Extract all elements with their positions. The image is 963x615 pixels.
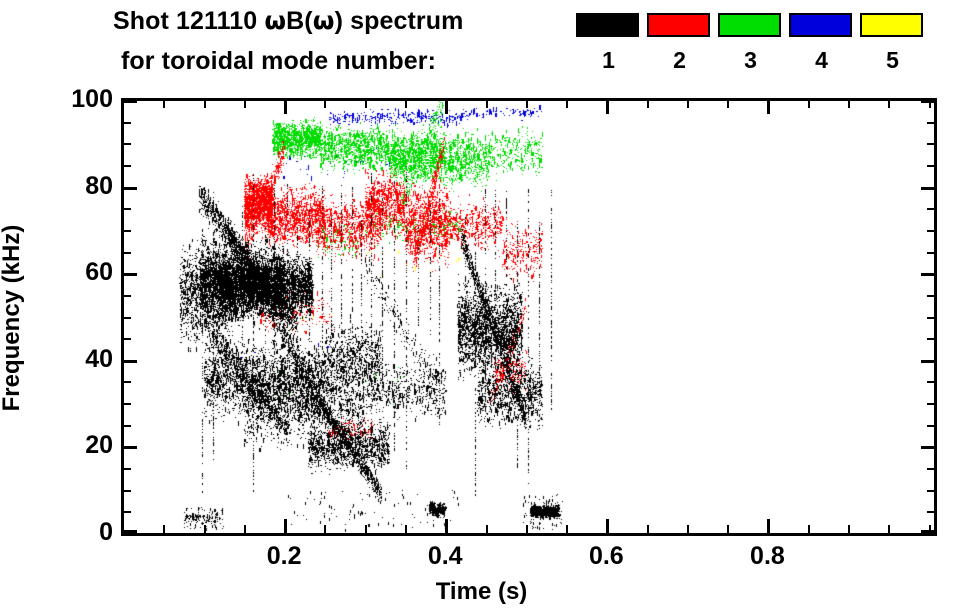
x-minor-tick-top [244, 100, 246, 108]
y-minor-tick [123, 425, 131, 427]
x-tick-label: 0.6 [566, 544, 646, 569]
legend-swatch-3 [718, 13, 781, 37]
y-minor-tick [123, 317, 131, 319]
y-minor-tick-right [927, 490, 935, 492]
x-minor-tick-top [647, 100, 649, 108]
y-major-tick [123, 360, 137, 363]
y-axis-title: Frequency (kHz) [0, 0, 26, 183]
legend-item-4: 4 [789, 13, 854, 72]
x-minor-tick [163, 525, 165, 533]
y-minor-tick-right [927, 143, 935, 145]
x-minor-tick [647, 525, 649, 533]
x-minor-tick-top [486, 100, 488, 108]
x-minor-tick-top [163, 100, 165, 108]
y-minor-tick-right [927, 230, 935, 232]
y-minor-tick [123, 403, 131, 405]
x-major-tick-top [284, 100, 287, 114]
omega-symbol-2: ω [313, 6, 335, 35]
y-minor-tick [123, 122, 131, 124]
legend-swatch-1 [576, 13, 639, 37]
axis-bottom-spine [123, 533, 937, 536]
plot-area [123, 100, 935, 533]
y-minor-tick-right [927, 208, 935, 210]
x-minor-tick-top [687, 100, 689, 108]
x-minor-tick [244, 525, 246, 533]
x-minor-tick [526, 525, 528, 533]
x-minor-tick [365, 525, 367, 533]
x-minor-tick [324, 525, 326, 533]
y-major-tick [123, 273, 137, 276]
x-tick-label: 0.4 [405, 544, 485, 569]
x-major-tick-top [606, 100, 609, 114]
figure-title-line-1: Shot 121110 ωB(ω) spectrum [113, 6, 463, 36]
x-minor-tick [727, 525, 729, 533]
x-tick-label: 0.2 [244, 544, 324, 569]
y-minor-tick-right [927, 381, 935, 383]
y-major-tick-right [921, 446, 935, 449]
y-tick-label: 0 [57, 520, 113, 545]
y-tick-label: 20 [57, 433, 113, 458]
y-minor-tick [123, 468, 131, 470]
y-minor-tick [123, 295, 131, 297]
y-major-tick-right [921, 273, 935, 276]
y-major-tick [123, 187, 137, 190]
x-minor-tick [405, 525, 407, 533]
legend-label-4: 4 [789, 49, 854, 72]
y-minor-tick [123, 511, 131, 513]
y-axis-title-text: Frequency (kHz) [0, 183, 26, 453]
legend-item-3: 3 [718, 13, 783, 72]
x-minor-tick-top [526, 100, 528, 108]
y-minor-tick [123, 143, 131, 145]
y-minor-tick-right [927, 511, 935, 513]
x-major-tick-top [767, 100, 770, 114]
x-major-tick [445, 519, 448, 533]
x-minor-tick-top [566, 100, 568, 108]
x-minor-tick-top [888, 100, 890, 108]
x-minor-tick [486, 525, 488, 533]
y-minor-tick-right [927, 468, 935, 470]
x-tick-label: 0.8 [727, 544, 807, 569]
y-major-tick [123, 446, 137, 449]
y-minor-tick-right [927, 403, 935, 405]
legend-item-1: 1 [576, 13, 641, 72]
y-major-tick-right [921, 530, 935, 533]
x-major-tick-top [445, 100, 448, 114]
y-minor-tick-right [927, 338, 935, 340]
x-minor-tick [687, 525, 689, 533]
y-major-tick [123, 100, 137, 103]
y-minor-tick [123, 208, 131, 210]
y-minor-tick [123, 490, 131, 492]
legend-label-2: 2 [647, 49, 712, 72]
y-minor-tick-right [927, 122, 935, 124]
y-major-tick [123, 530, 137, 533]
x-axis-title: Time (s) [0, 578, 963, 606]
spectrogram-figure: Shot 121110 ωB(ω) spectrum for toroidal … [0, 0, 963, 615]
x-minor-tick [888, 525, 890, 533]
y-minor-tick [123, 338, 131, 340]
x-minor-tick-top [405, 100, 407, 108]
y-major-tick-right [921, 187, 935, 190]
omega-symbol-1: ω [264, 6, 286, 35]
y-minor-tick [123, 252, 131, 254]
title-shot-text: Shot 121110 [113, 7, 264, 35]
y-major-tick-right [921, 360, 935, 363]
x-minor-tick [848, 525, 850, 533]
y-major-tick-right [921, 100, 935, 103]
y-tick-label: 80 [57, 174, 113, 199]
spectrogram-canvas [123, 100, 935, 533]
y-minor-tick-right [927, 252, 935, 254]
legend-label-1: 1 [576, 49, 641, 72]
x-minor-tick-top [365, 100, 367, 108]
title-b-open: B( [286, 7, 313, 35]
figure-title-line-2: for toroidal mode number: [121, 47, 436, 76]
y-minor-tick [123, 230, 131, 232]
legend-label-5: 5 [860, 49, 925, 72]
legend-swatch-2 [647, 13, 710, 37]
y-minor-tick-right [927, 165, 935, 167]
legend: 12345 [576, 13, 956, 91]
x-minor-tick-top [727, 100, 729, 108]
x-minor-tick [808, 525, 810, 533]
legend-swatch-4 [789, 13, 852, 37]
x-minor-tick [566, 525, 568, 533]
x-minor-tick [204, 525, 206, 533]
legend-swatch-5 [860, 13, 923, 37]
legend-item-2: 2 [647, 13, 712, 72]
y-minor-tick [123, 165, 131, 167]
x-major-tick [284, 519, 287, 533]
y-minor-tick-right [927, 295, 935, 297]
y-minor-tick-right [927, 425, 935, 427]
y-tick-label: 100 [57, 87, 113, 112]
x-minor-tick-top [204, 100, 206, 108]
y-tick-label: 40 [57, 347, 113, 372]
x-major-tick [606, 519, 609, 533]
legend-label-3: 3 [718, 49, 783, 72]
legend-item-5: 5 [860, 13, 925, 72]
y-minor-tick [123, 381, 131, 383]
y-tick-label: 60 [57, 260, 113, 285]
x-minor-tick-top [324, 100, 326, 108]
x-minor-tick-top [808, 100, 810, 108]
x-minor-tick-top [848, 100, 850, 108]
title-spectrum-text: ) spectrum [335, 7, 464, 35]
x-major-tick [767, 519, 770, 533]
y-minor-tick-right [927, 317, 935, 319]
